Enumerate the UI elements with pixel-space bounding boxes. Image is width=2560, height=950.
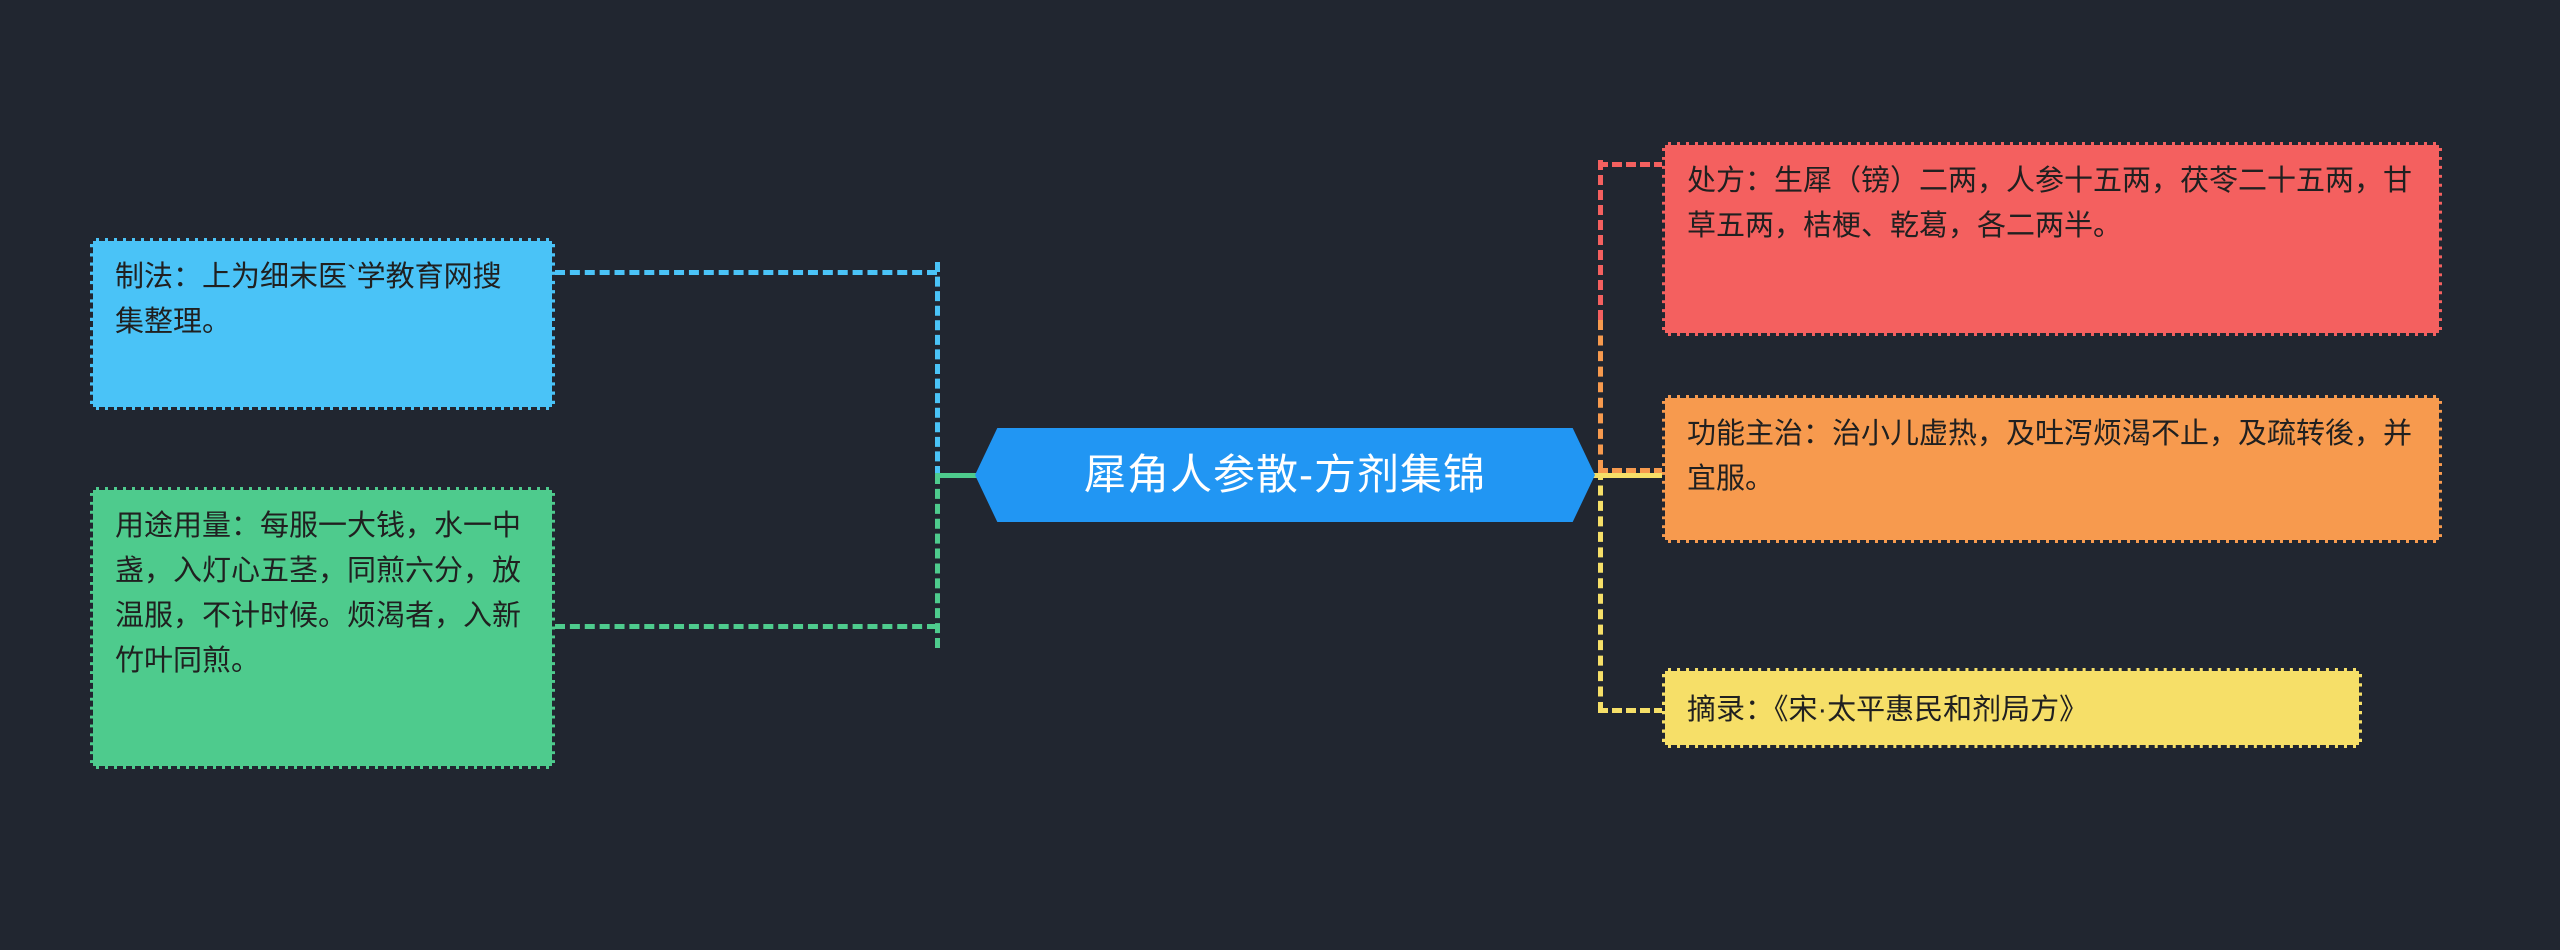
connector-stub-zhifa <box>555 270 937 275</box>
connector-spine-chufang <box>1598 160 1603 320</box>
connector-stub-chufang <box>1598 162 1664 167</box>
connector-spine-gongneng <box>1598 320 1603 470</box>
connector-spine-zhifa <box>935 262 940 476</box>
leaf-node-zhifa[interactable]: 制法：上为细末医`学教育网搜集整理。 <box>90 238 555 410</box>
center-node[interactable]: 犀角人参散-方剂集锦 <box>975 428 1595 522</box>
leaf-node-chufang[interactable]: 处方：生犀（镑）二两，人参十五两，茯苓二十五两，甘草五两，桔梗、乾葛，各二两半。 <box>1662 142 2442 336</box>
connector-stub-zhailu <box>1598 708 1664 713</box>
connector-spine-yongtu <box>935 474 940 648</box>
leaf-node-yongtu-yongliang[interactable]: 用途用量：每服一大钱，水一中盏，入灯心五茎，同煎六分，放温服，不计时候。烦渴者，… <box>90 487 555 769</box>
connector-center-left <box>935 473 977 478</box>
connector-center-right <box>1592 473 1666 478</box>
leaf-node-gongneng-zhuzhi[interactable]: 功能主治：治小儿虚热，及吐泻烦渴不止，及疏转後，并宜服。 <box>1662 395 2442 543</box>
connector-spine-zhailu <box>1598 470 1603 712</box>
leaf-node-zhailu[interactable]: 摘录：《宋·太平惠民和剂局方》 <box>1662 668 2362 748</box>
connector-stub-yongtu <box>555 624 937 629</box>
mindmap-canvas: 犀角人参散-方剂集锦 制法：上为细末医`学教育网搜集整理。 用途用量：每服一大钱… <box>0 0 2560 950</box>
